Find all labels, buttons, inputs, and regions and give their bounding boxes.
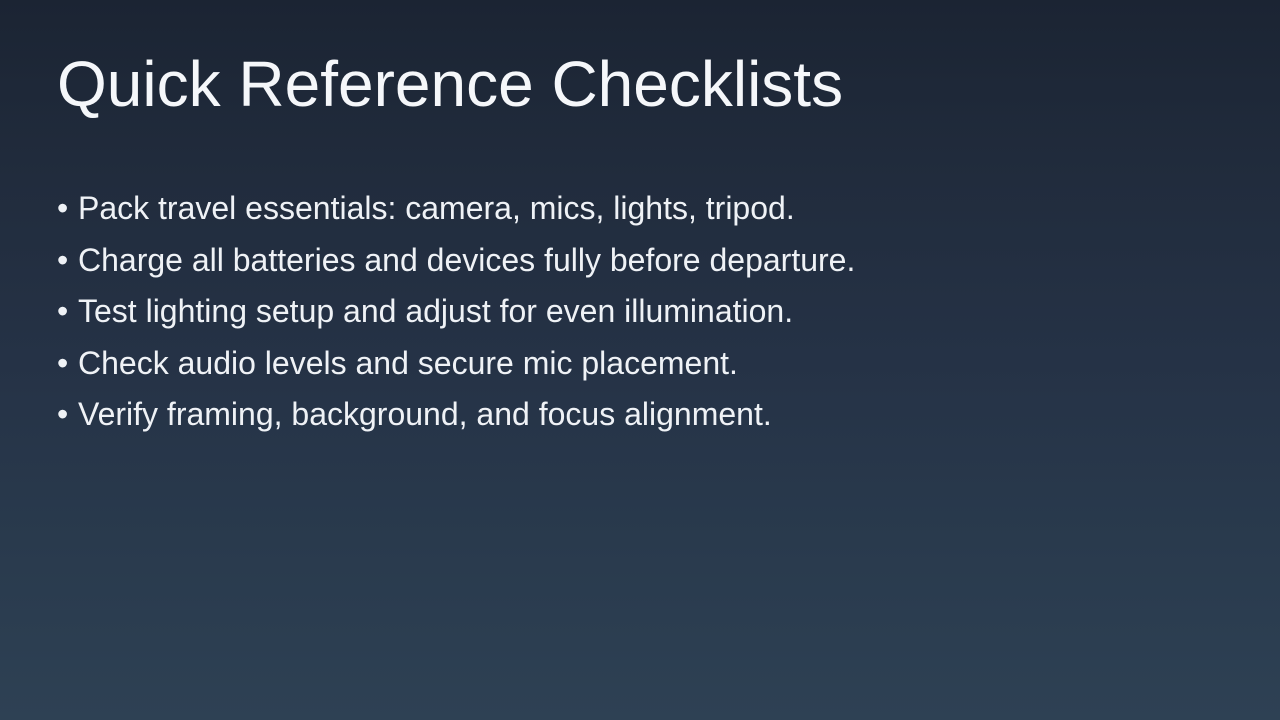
list-item-text: Verify framing, background, and focus al… [78, 392, 772, 436]
slide-title: Quick Reference Checklists [57, 52, 843, 116]
bullet-point-icon: • [57, 289, 78, 333]
list-item-text: Test lighting setup and adjust for even … [78, 289, 793, 333]
bullet-point-icon: • [57, 341, 78, 385]
bullet-point-icon: • [57, 186, 78, 230]
list-item: • Charge all batteries and devices fully… [57, 238, 1157, 290]
list-item-text: Charge all batteries and devices fully b… [78, 238, 855, 282]
list-item: • Verify framing, background, and focus … [57, 392, 1157, 444]
list-item-text: Check audio levels and secure mic placem… [78, 341, 738, 385]
bullet-point-icon: • [57, 392, 78, 436]
checklist-bullet-list: • Pack travel essentials: camera, mics, … [57, 186, 1157, 444]
list-item: • Pack travel essentials: camera, mics, … [57, 186, 1157, 238]
list-item: • Check audio levels and secure mic plac… [57, 341, 1157, 393]
bullet-point-icon: • [57, 238, 78, 282]
presentation-slide: Quick Reference Checklists • Pack travel… [0, 0, 1280, 720]
list-item: • Test lighting setup and adjust for eve… [57, 289, 1157, 341]
list-item-text: Pack travel essentials: camera, mics, li… [78, 186, 795, 230]
